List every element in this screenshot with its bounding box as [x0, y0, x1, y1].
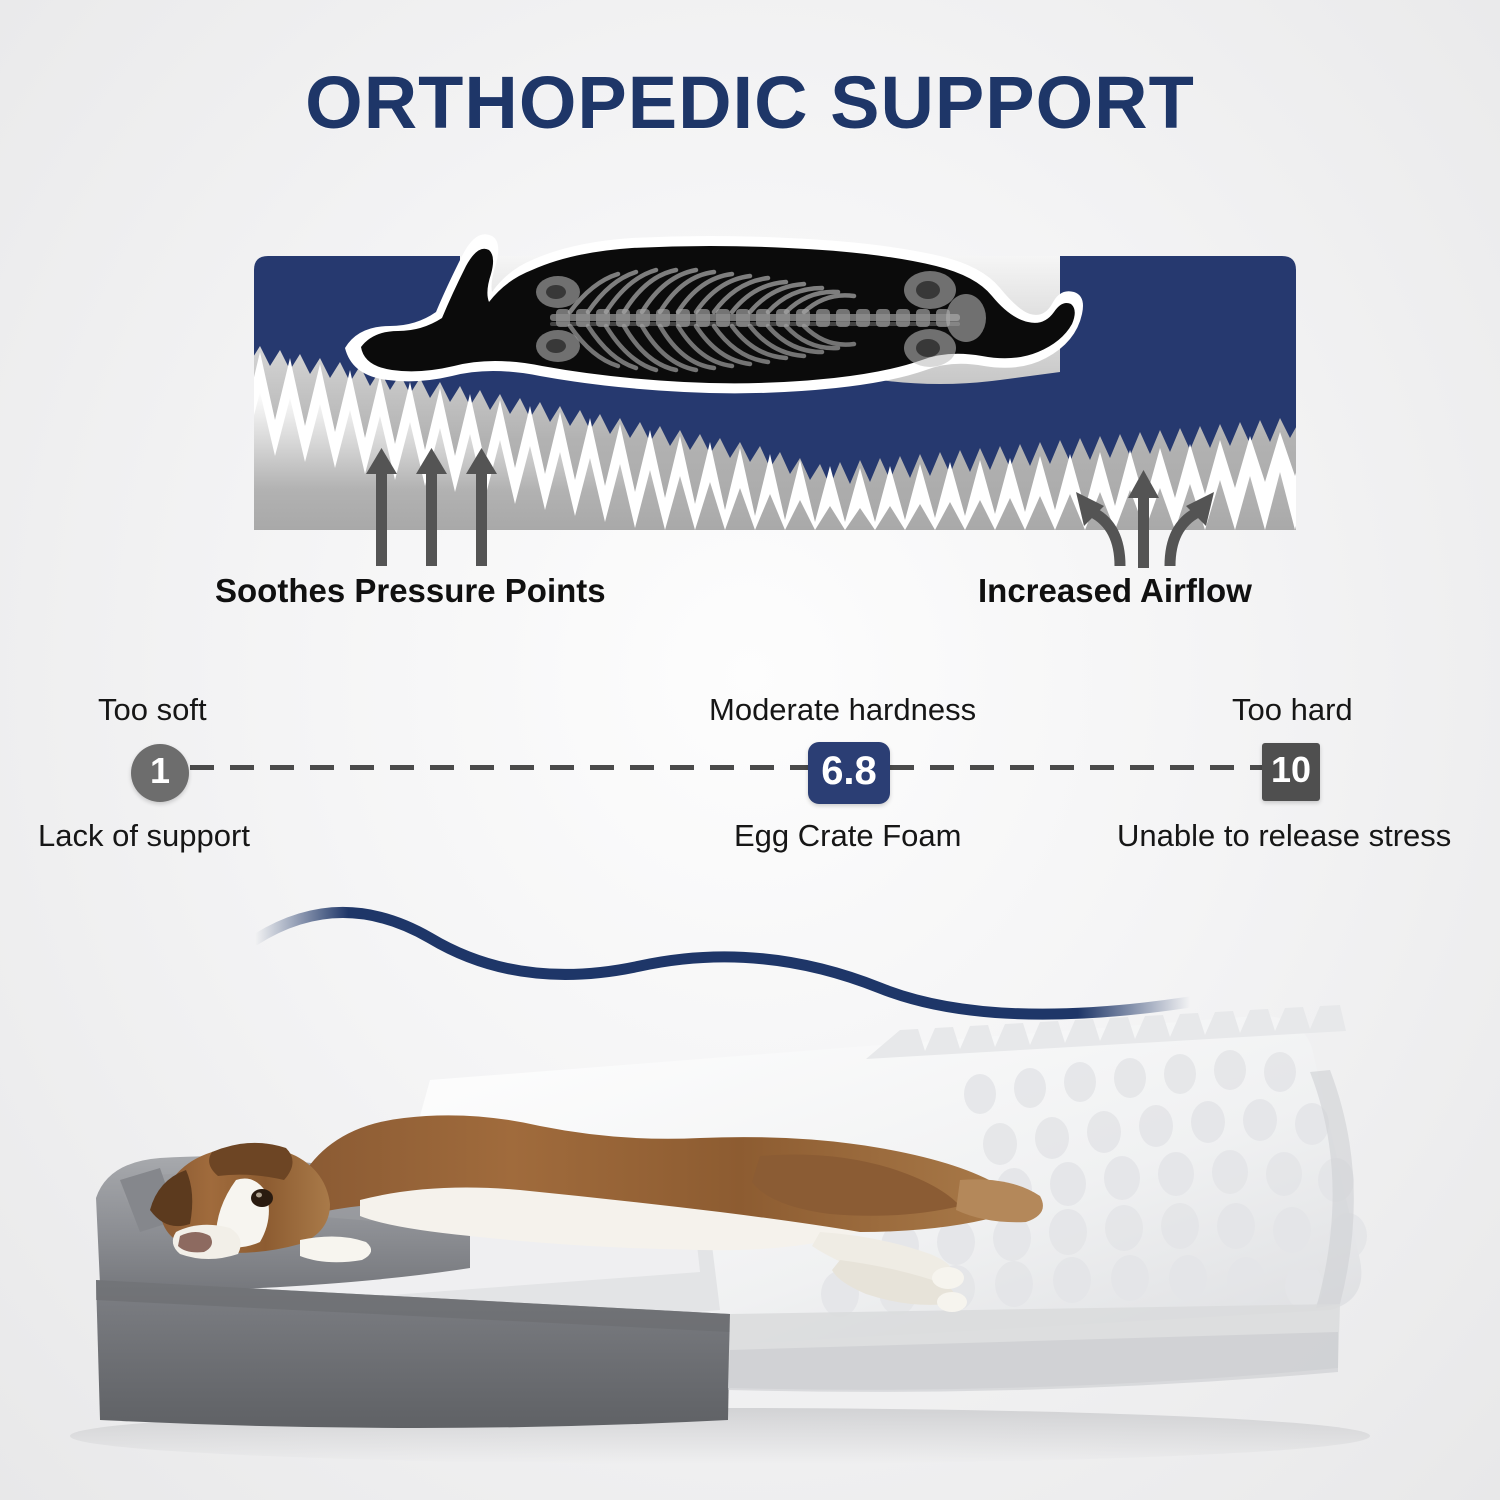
scale-label-moderate-hardness: Moderate hardness: [709, 692, 976, 728]
caption-increased-airflow: Increased Airflow: [978, 572, 1252, 610]
scale-label-egg-crate-foam: Egg Crate Foam: [734, 818, 961, 854]
foam-cross-section-illustration: [240, 230, 1310, 560]
scale-label-lack-of-support: Lack of support: [38, 818, 250, 854]
caption-soothes-pressure-points: Soothes Pressure Points: [215, 572, 606, 610]
scale-label-too-soft: Too soft: [98, 692, 207, 728]
scale-badge-10: 10: [1262, 743, 1320, 801]
scale-track-left: [190, 765, 810, 770]
scale-badge-10-value: 10: [1271, 749, 1311, 791]
scale-track-right: [890, 765, 1262, 770]
scale-label-unable-to-release-stress: Unable to release stress: [1117, 818, 1451, 854]
scale-badge-6-8-value: 6.8: [821, 749, 877, 794]
scale-badge-6-8: 6.8: [808, 742, 890, 804]
scale-label-too-hard: Too hard: [1232, 692, 1353, 728]
product-photo-dog-on-bed: [0, 880, 1500, 1500]
decorative-swoosh-line: [255, 912, 1190, 1014]
scale-badge-1-value: 1: [150, 750, 170, 792]
infographic-stage: ORTHOPEDIC SUPPORT: [0, 0, 1500, 1500]
product-photo-svg: [0, 880, 1500, 1500]
scale-badge-1: 1: [131, 744, 189, 802]
pressure-point-arrows: [366, 448, 497, 566]
cross-section-svg: [240, 230, 1310, 560]
page-title: ORTHOPEDIC SUPPORT: [0, 60, 1500, 145]
